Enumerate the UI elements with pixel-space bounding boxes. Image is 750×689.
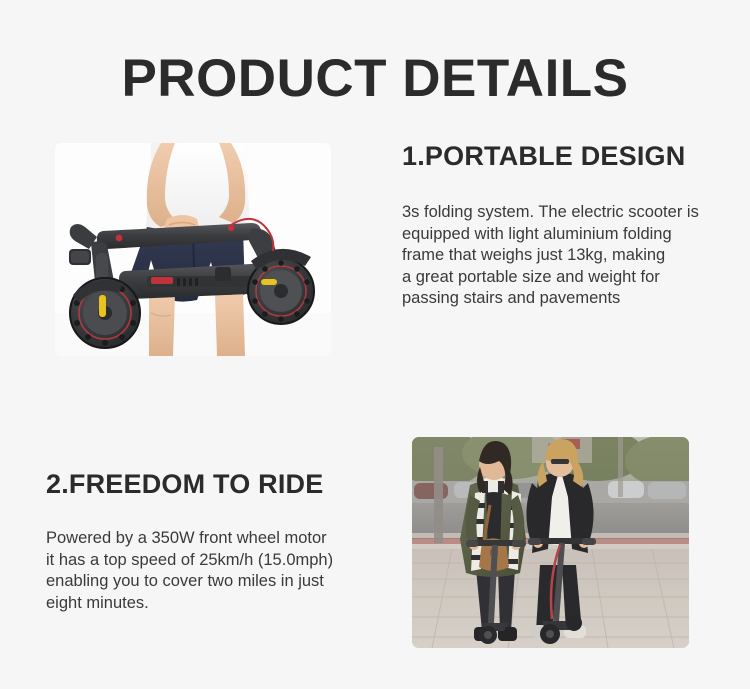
section-2-body: Powered by a 350W front wheel motor it h… bbox=[46, 528, 386, 614]
product-details-page: PRODUCT DETAILS bbox=[0, 0, 750, 689]
women-riding-scooters-photo bbox=[412, 437, 689, 648]
section-1-text-block: 1.PORTABLE DESIGN 3s folding system. The… bbox=[402, 140, 737, 310]
folded-scooter-carry-photo bbox=[55, 143, 331, 356]
section-1-image bbox=[55, 143, 331, 356]
section-2-text-block: 2.FREEDOM TO RIDE Powered by a 350W fron… bbox=[46, 468, 386, 614]
section-2-heading: 2.FREEDOM TO RIDE bbox=[46, 468, 386, 500]
section-2-image bbox=[412, 437, 689, 648]
page-title: PRODUCT DETAILS bbox=[0, 48, 750, 110]
section-1-body: 3s folding system. The electric scooter … bbox=[402, 202, 737, 310]
section-1-heading: 1.PORTABLE DESIGN bbox=[402, 140, 737, 172]
